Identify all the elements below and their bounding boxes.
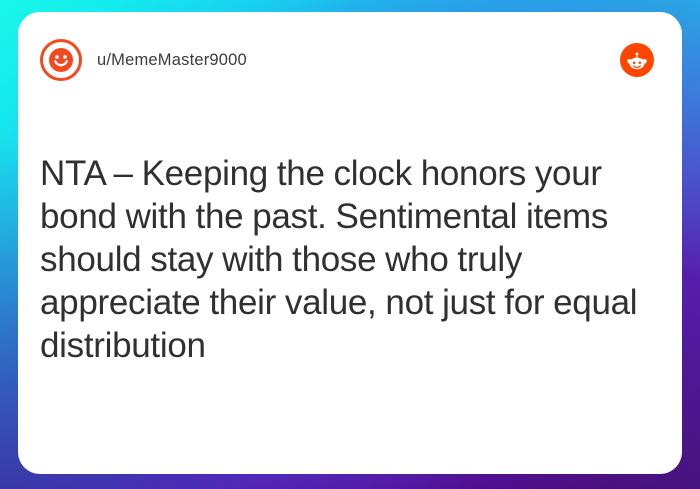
username-label: u/MemeMaster9000 [97,51,247,70]
card-header: u/MemeMaster9000 [18,12,682,108]
reddit-snoo-icon [620,43,654,77]
quote-card: u/MemeMaster9000 NTA – Keeping the clock… [18,12,682,474]
quote-card-stage: u/MemeMaster9000 NTA – Keeping the clock… [0,0,700,489]
quote-text: NTA – Keeping the clock honors your bond… [40,152,658,367]
smiley-face-icon [40,39,82,81]
